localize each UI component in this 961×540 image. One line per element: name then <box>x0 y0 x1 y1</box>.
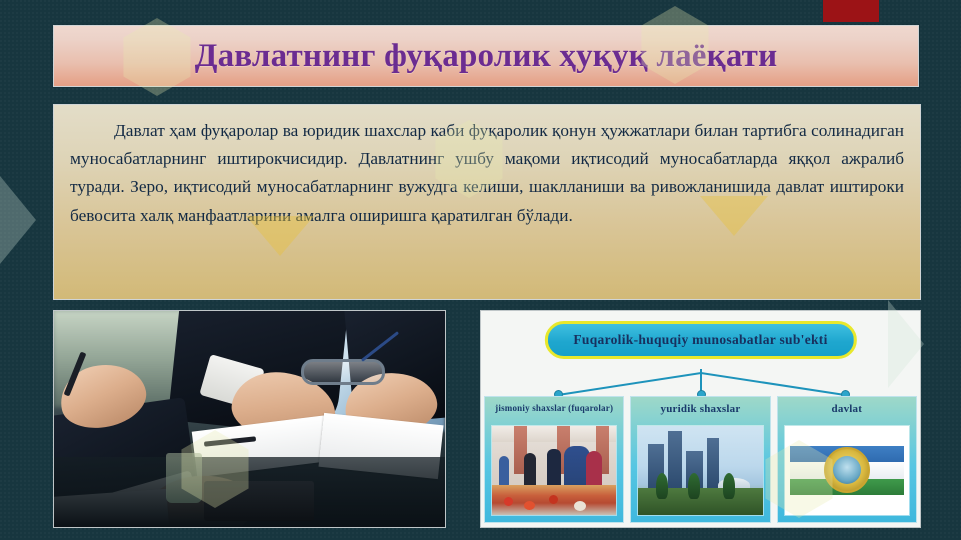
photo-row: Fuqarolik-huquqiy munosabatlar sub'ekti … <box>53 310 921 528</box>
diagram-columns: jismoniy shaxslar (fuqarolar) <box>484 396 917 523</box>
leather-folder <box>204 481 314 521</box>
diagram-column-label: jismoniy shaxslar (fuqarolar) <box>485 403 623 413</box>
flag-scene <box>785 426 909 515</box>
bazaar-person-1 <box>499 456 509 486</box>
diagram-canvas: Fuqarolik-huquqiy munosabatlar sub'ekti … <box>481 311 920 527</box>
state-emblem-center <box>833 456 861 484</box>
presentation-slide: Давлатнинг фуқаролик ҳуқуқ лаёқати Давла… <box>0 0 961 540</box>
diagram-column-jismoniy-shaxslar: jismoniy shaxslar (fuqarolar) <box>484 396 624 523</box>
tree-3 <box>723 473 735 499</box>
meeting-scene <box>54 311 445 527</box>
diagram-connectors <box>481 369 920 399</box>
page-title: Давлатнинг фуқаролик ҳуқуқ лаёқати <box>195 40 778 73</box>
city-scene <box>638 426 762 515</box>
watermark-arrow-left <box>0 176 36 264</box>
thumbnail-flag <box>784 425 910 516</box>
tree-2 <box>688 473 700 499</box>
diagram-column-label: davlat <box>778 403 916 415</box>
photo-business-meeting <box>53 310 446 528</box>
slide-body-panel: Давлат ҳам фуқаролар ва юридик шахслар к… <box>53 104 921 300</box>
diagram-column-davlat: davlat <box>777 396 917 523</box>
bazaar-person-2 <box>524 453 536 487</box>
decorative-red-accent-block <box>823 0 879 22</box>
building-4 <box>707 438 719 490</box>
diagram-root-label: Fuqarolik-huquqiy munosabatlar sub'ekti <box>573 332 827 347</box>
thumbnail-bazaar <box>491 425 617 516</box>
diagram-root-node: Fuqarolik-huquqiy munosabatlar sub'ekti <box>544 321 856 359</box>
diagram-column-label: yuridik shaxslar <box>631 403 769 415</box>
tree-1 <box>656 473 668 499</box>
slide-title-panel: Давлатнинг фуқаролик ҳуқуқ лаёқати <box>53 25 919 87</box>
uzbekistan-flag-icon <box>790 446 904 496</box>
bazaar-scene <box>492 426 616 515</box>
drinking-glass <box>166 453 202 503</box>
bazaar-person-3 <box>547 449 561 489</box>
produce-item-4 <box>574 501 586 511</box>
produce-item-2 <box>524 501 535 510</box>
thumbnail-city <box>637 425 763 516</box>
body-paragraph: Давлат ҳам фуқаролар ва юридик шахслар к… <box>70 117 904 230</box>
photo-diagram: Fuqarolik-huquqiy munosabatlar sub'ekti … <box>480 310 921 528</box>
diagram-column-yuridik-shaxslar: yuridik shaxslar <box>630 396 770 523</box>
eyeglasses-icon <box>301 359 385 385</box>
state-emblem-icon <box>824 447 870 493</box>
building-2 <box>668 431 682 490</box>
